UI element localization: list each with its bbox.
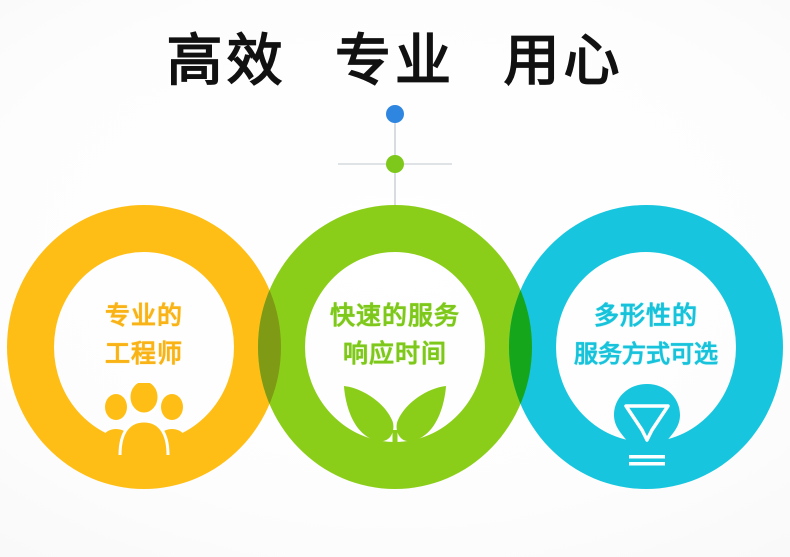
sprout-icon: [340, 378, 450, 464]
circle-service-modes-line-2: 服务方式可选: [536, 335, 756, 373]
circle-text-engineers: 专业的 工程师: [44, 297, 244, 373]
circle-engineers-line-1: 专业的: [44, 297, 244, 335]
circle-response-line-1: 快速的服务: [295, 297, 495, 335]
circle-engineers-line-2: 工程师: [44, 335, 244, 373]
lightbulb-icon: [608, 382, 686, 470]
three-people-icon: [94, 383, 194, 455]
circle-service-modes-line-1: 多形性的: [536, 297, 756, 335]
venn-rings-graphic: [0, 0, 790, 557]
circle-response-line-2: 响应时间: [295, 335, 495, 373]
circle-text-service-modes: 多形性的 服务方式可选: [536, 297, 756, 373]
infographic-canvas: 高效 专业 用心: [0, 0, 790, 557]
circle-text-response: 快速的服务 响应时间: [295, 297, 495, 373]
